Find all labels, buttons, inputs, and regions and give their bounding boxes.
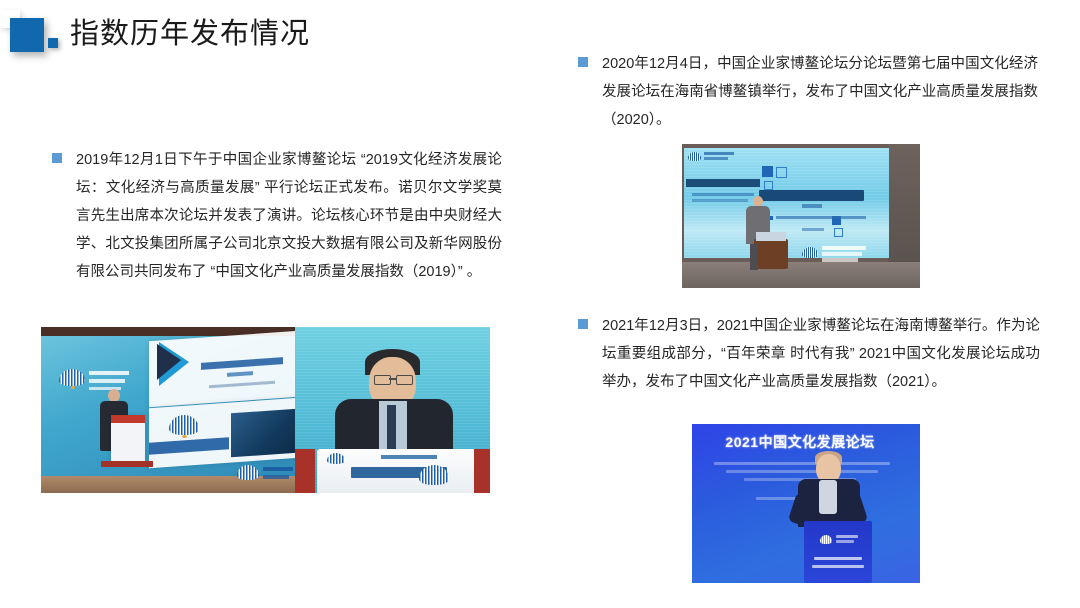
bullet-item-2021: 2021年12月3日，2021中国企业家博鳌论坛在海南博鳌举行。作为论坛重要组成… [578,312,1040,396]
slide-header: 指数历年发布情况 [0,10,310,58]
screen-logo-text-line [704,152,734,155]
podium-slogan-line [814,557,862,560]
backdrop-host-line [726,470,878,473]
screen-left-subline [692,199,748,202]
screen-logo-text-line [704,157,728,160]
screen-date-line [802,228,824,231]
screen-left-subline [692,193,754,196]
bullet-square-icon [578,57,588,67]
banner-text-line [263,475,289,479]
stage-red-carpet [101,461,153,467]
boao-fan-logo-icon [802,247,818,258]
banner-text-line [263,467,293,471]
podium-caption-line [381,455,437,459]
bullet-item-2019: 2019年12月1日下午于中国企业家博鳌论坛 “2019文化经济发展论坛：文化经… [52,146,502,286]
speaker-tie [387,405,396,449]
photo-forum-2020 [682,144,920,288]
decoration-outline-square-icon [834,228,843,237]
boao-fan-dot-icon [71,386,75,389]
decoration-square-icon [762,166,773,177]
boao-fan-logo-icon [59,369,85,386]
bullet-text-2019: 2019年12月1日下午于中国企业家博鳌论坛 “2019文化经济发展论坛：文化经… [76,146,502,286]
photo-2019-speaker [295,327,490,493]
boao-fan-logo-icon [820,535,832,544]
boao-fan-logo-icon [327,453,345,464]
podium-logo-line [836,535,858,538]
bullet-text-2021: 2021年12月3日，2021中国企业家博鳌论坛在海南博鳌举行。作为论坛重要组成… [602,312,1040,396]
decoration-small-square-icon [48,38,58,48]
podium-top-panel [756,232,786,241]
screen-main-title-bar [759,190,864,201]
bullet-square-icon [578,319,588,329]
speaker-shirt [819,480,837,514]
podium-logo-line [836,540,854,543]
backdrop-host-line [714,462,890,465]
floor-banner-text-line [822,258,858,262]
photo-forum-2019 [41,327,490,493]
hall-floor [41,476,295,493]
boao-fan-dot-icon [182,435,187,438]
red-side-panel [474,449,490,493]
podium-2020 [754,239,788,269]
podium-sub-line [812,565,864,568]
backdrop-title-2021: 2021中国文化发展论坛 [710,431,890,452]
speaker-legs [750,244,758,270]
podium-2021 [804,521,872,583]
screen-left-headline [686,179,760,187]
floor-banner-text-line [822,246,866,250]
decoration-outline-square-icon [776,167,787,178]
stage-floor [682,262,920,288]
backdrop-text-line [89,371,129,375]
floor-banner-text-line [822,252,862,256]
boao-fan-logo-icon [688,152,701,161]
bullet-item-2020: 2020年12月4日，中国企业家博鳌论坛分论坛暨第七届中国文化经济发展论坛在海南… [578,50,1038,134]
decoration-outline-square-icon [764,181,773,190]
screen-credits-line [776,216,866,219]
boao-fan-logo-icon [237,465,259,480]
screen-year-bar [802,204,822,208]
chevron-graphic-dark-icon [157,342,181,380]
decoration-large-square-icon [10,18,44,52]
bullet-text-2020: 2020年12月4日，中国企业家博鳌论坛分论坛暨第七届中国文化经济发展论坛在海南… [602,50,1038,134]
photo-2019-stage [41,327,295,493]
glasses-right-icon [396,375,413,385]
title-decoration [0,10,70,58]
bullet-square-icon [52,153,62,163]
red-side-panel [295,449,315,493]
podium-top-band [111,415,145,423]
page-title: 指数历年发布情况 [70,20,310,49]
backdrop-text-line [89,379,125,383]
photo-forum-2021: 2021中国文化发展论坛 [692,424,920,583]
slide-photo-tile [231,409,295,458]
glasses-left-icon [374,375,391,385]
glasses-bridge-icon [389,378,396,380]
